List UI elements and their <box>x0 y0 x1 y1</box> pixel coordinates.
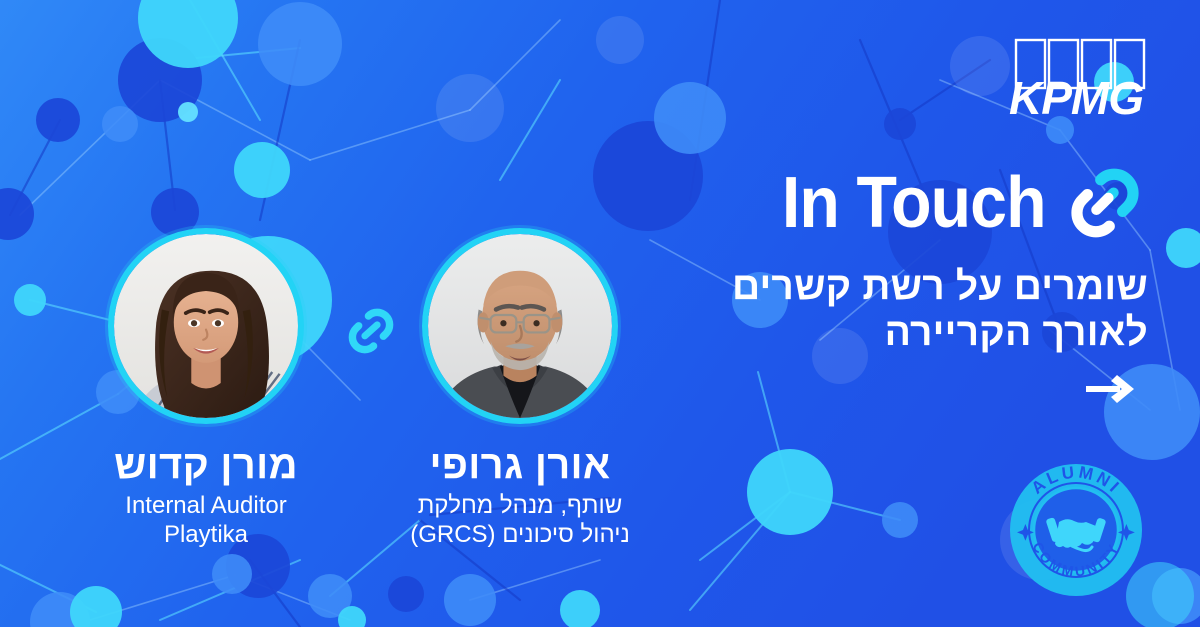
chain-link-icon <box>1062 160 1148 246</box>
portrait-image-woman <box>114 234 298 418</box>
in-touch-title-row: In Touch <box>678 160 1148 246</box>
person-name: אורן גרופי <box>368 444 672 487</box>
headline-subtitle-line1: שומרים על רשת קשרים <box>678 264 1148 310</box>
person-role-line2: Playtika <box>54 520 358 549</box>
person-role-line1: Internal Auditor <box>54 491 358 520</box>
headline-subtitle: שומרים על רשת קשרים לאורך הקריירה <box>678 264 1148 356</box>
kpmg-logo: KPMG <box>1000 36 1152 120</box>
person-info-oren-grofi: אורן גרופי שותף, מנהל מחלקת ניהול סיכוני… <box>368 444 672 550</box>
in-touch-title: In Touch <box>782 170 1046 236</box>
arrow-right-icon[interactable] <box>1084 372 1140 406</box>
alumni-community-badge: ALUMNI COMMUNITY <box>1002 456 1150 604</box>
person-role-line2: ניהול סיכונים (GRCS) <box>368 520 672 549</box>
headline-block: In Touch שומרים על רשת קשרים לאורך הקריי… <box>678 160 1148 406</box>
person-name: מורן קדוש <box>54 444 358 487</box>
arrow-right-container[interactable] <box>678 372 1148 406</box>
avatar-moran-kadosh <box>108 228 304 424</box>
avatar-oren-grofi <box>422 228 618 424</box>
person-info-moran-kadosh: מורן קדוש Internal Auditor Playtika <box>54 444 358 550</box>
person-role-line1: שותף, מנהל מחלקת <box>368 491 672 520</box>
kpmg-logo-text: KPMG <box>1009 72 1143 120</box>
portrait-image-man <box>428 234 612 418</box>
kpmg-in-touch-banner: KPMG In Touch שומרים על רשת קשרים <box>0 0 1200 627</box>
chain-link-connector-icon <box>340 300 402 362</box>
headline-subtitle-line2: לאורך הקריירה <box>678 310 1148 356</box>
